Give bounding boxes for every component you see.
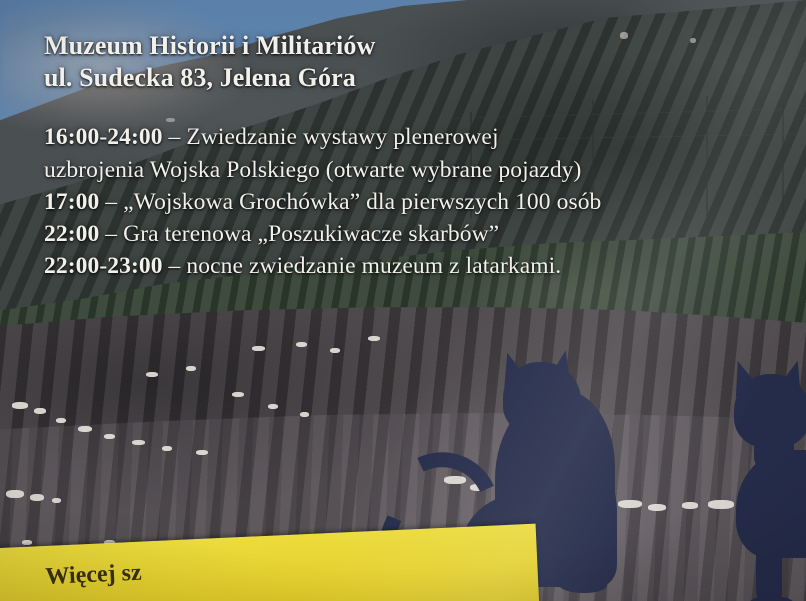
wear-speckle [30, 494, 44, 501]
wear-speckle [300, 412, 309, 417]
wear-speckle [12, 402, 28, 409]
schedule-description: „Wojskowa Grochówka” dla pierwszych 100 … [123, 189, 601, 215]
wear-speckle [104, 434, 115, 439]
schedule-dash: – [163, 124, 187, 150]
schedule-dash: – [99, 221, 123, 247]
wear-speckle [186, 366, 196, 371]
wear-speckle [268, 404, 278, 409]
wear-speckle [252, 346, 265, 351]
wear-speckle [132, 440, 145, 445]
schedule-list: 16:00-24:00 – Zwiedzanie wystawy plenero… [44, 121, 744, 282]
venue-address: ul. Sudecka 83, Jelena Góra [44, 62, 744, 94]
utility-pole-icon [782, 104, 784, 216]
schedule-row: 22:00-23:00 – nocne zwiedzanie muzeum z … [44, 250, 744, 282]
schedule-description: uzbrojenia Wojska Polskiego (otwarte wyb… [44, 157, 581, 183]
schedule-time: 17:00 [44, 189, 99, 215]
schedule-row: 22:00 – Gra terenowa „Poszukiwacze skarb… [44, 218, 744, 250]
wear-speckle [146, 372, 158, 377]
cat-left-ear [495, 349, 529, 389]
wear-speckle [52, 498, 61, 503]
cat-front-leg [756, 538, 782, 601]
wear-speckle [330, 348, 340, 353]
cat-right-ear [776, 357, 806, 397]
poster-text-block: Muzeum Historii i Militariów ul. Sudecka… [44, 30, 744, 282]
schedule-row: uzbrojenia Wojska Polskiego (otwarte wyb… [44, 154, 744, 186]
bottom-band-text: Więcej sz [45, 560, 142, 591]
wear-speckle [22, 540, 32, 545]
poster-photograph: Muzeum Historii i Militariów ul. Sudecka… [0, 0, 806, 601]
wear-speckle [232, 392, 244, 397]
schedule-description: Zwiedzanie wystawy plenerowej [186, 124, 498, 150]
venue-name: Muzeum Historii i Militariów [44, 30, 744, 62]
schedule-description: Gra terenowa „Poszukiwacze skarbów” [123, 221, 499, 247]
standing-cat-silhouette [718, 358, 806, 601]
wear-speckle [34, 408, 46, 414]
wear-speckle [56, 418, 66, 423]
wear-speckle [78, 426, 92, 432]
cat-front-paw [750, 596, 794, 601]
schedule-dash: – [99, 189, 123, 215]
schedule-time: 22:00 [44, 221, 99, 247]
wear-speckle [296, 342, 307, 347]
cat-front-paw [559, 576, 607, 593]
wear-speckle [162, 446, 172, 451]
schedule-dash: – [163, 253, 187, 279]
wear-speckle [196, 450, 208, 455]
schedule-time: 22:00-23:00 [44, 253, 163, 279]
schedule-description: nocne zwiedzanie muzeum z latarkami. [186, 253, 561, 279]
schedule-row: 17:00 – „Wojskowa Grochówka” dla pierwsz… [44, 186, 744, 218]
wear-speckle [6, 490, 24, 498]
schedule-time: 16:00-24:00 [44, 124, 163, 150]
schedule-row: 16:00-24:00 – Zwiedzanie wystawy plenero… [44, 121, 744, 153]
wear-speckle [368, 336, 380, 341]
